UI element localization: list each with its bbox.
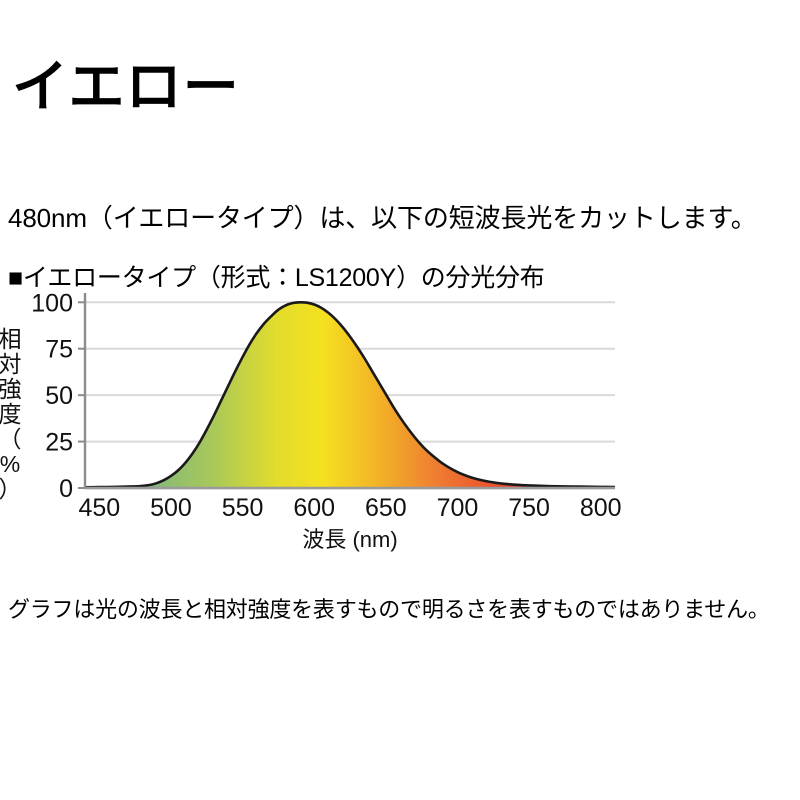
- x-axis-tick-label: 600: [293, 494, 335, 522]
- y-axis-tick-labels: 0255075100: [31, 289, 85, 503]
- x-axis-tick-label: 550: [222, 494, 264, 522]
- lead-description-text: 480nm（イエロータイプ）は、以下の短波長光をカットします。: [8, 202, 757, 235]
- x-axis-tick-label: 450: [78, 494, 120, 522]
- x-axis-tick-label: 650: [365, 494, 407, 522]
- y-axis-title-char: 度: [0, 401, 22, 427]
- y-axis-tick-label: 0: [59, 475, 73, 503]
- y-axis-title-char: ）: [0, 476, 22, 502]
- x-axis-tick-labels: 450500550600650700750800: [78, 494, 621, 522]
- y-axis-title-char: 強: [0, 376, 22, 402]
- chart-svg: 0255075100 450500550600650700750800 相対強度…: [0, 285, 660, 560]
- y-axis-tick-label: 25: [45, 429, 73, 457]
- spectral-distribution-chart: 0255075100 450500550600650700750800 相対強度…: [0, 285, 660, 560]
- y-axis-title-char: 相: [0, 326, 22, 352]
- x-axis-tick-label: 700: [437, 494, 479, 522]
- chart-footnote: グラフは光の波長と相対強度を表すもので明るさを表すものではありません。: [8, 596, 770, 624]
- y-axis-tick-label: 100: [31, 289, 73, 317]
- y-axis-title-char: （: [0, 426, 22, 452]
- x-axis-tick-label: 500: [150, 494, 192, 522]
- x-axis-tick-label: 800: [580, 494, 622, 522]
- x-axis-tick-label: 750: [508, 494, 550, 522]
- page-title: イエロー: [12, 56, 240, 118]
- y-axis-tick-label: 50: [45, 382, 73, 410]
- x-axis-title: 波長 (nm): [302, 527, 397, 552]
- y-axis-tick-label: 75: [45, 336, 73, 364]
- y-axis-title: 相対強度（%）: [0, 326, 22, 502]
- y-axis-title-char: 対: [0, 351, 22, 377]
- y-axis-title-char: %: [0, 451, 20, 477]
